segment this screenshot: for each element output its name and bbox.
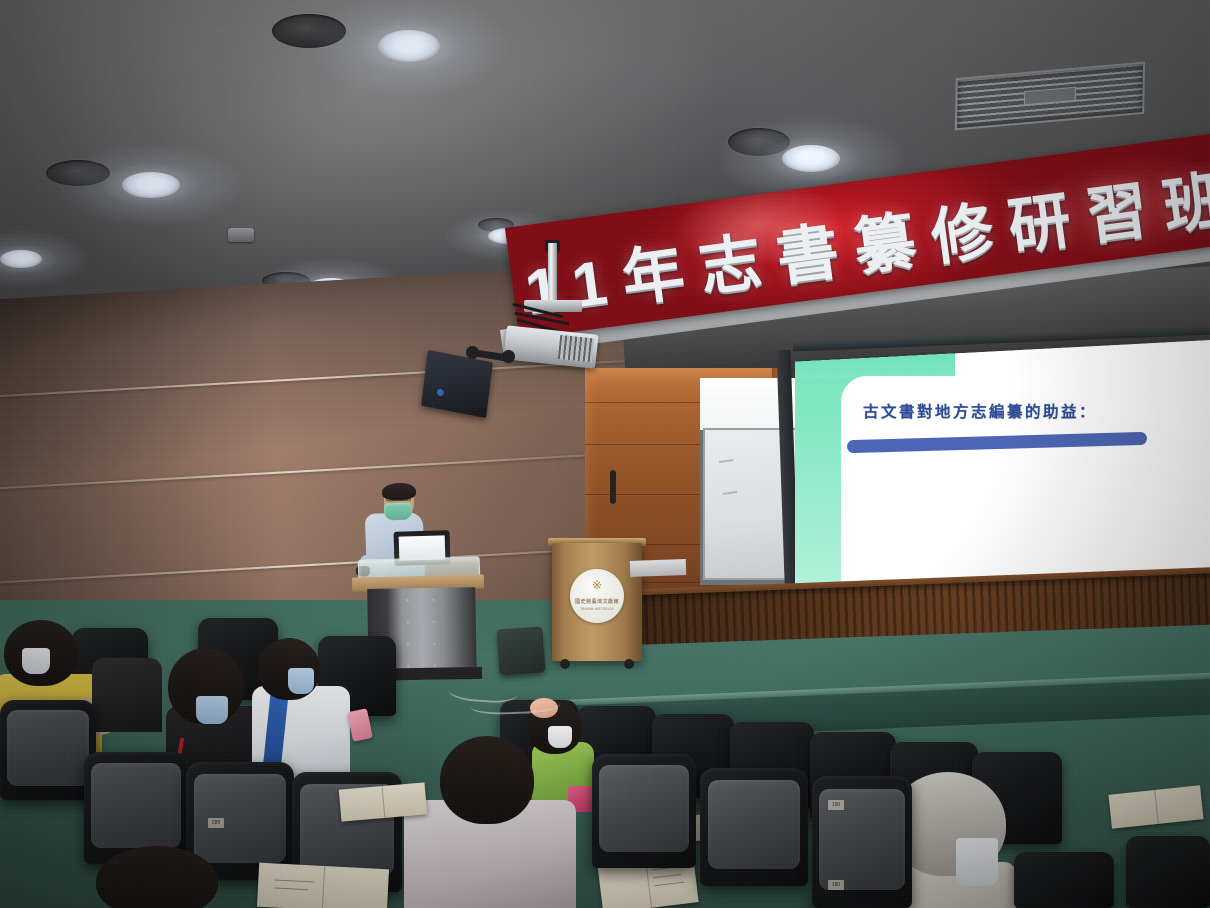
downlight-on-icon xyxy=(122,172,180,198)
downlight-off-icon xyxy=(728,128,790,156)
projector-vent xyxy=(558,335,594,362)
floor-bag xyxy=(496,626,545,675)
institution-emblem: ※ 國史館臺灣文獻館 TAIWAN HISTORICA xyxy=(570,569,624,623)
side-table xyxy=(630,559,687,577)
notebook-text-line xyxy=(654,882,684,887)
downlight-off-icon xyxy=(46,160,110,186)
seat-number-plate: 289 xyxy=(208,818,224,828)
slide-title: 古文書對地方志編纂的助益： xyxy=(863,400,1097,422)
notebook-text-line xyxy=(653,874,681,878)
downlight-on-icon xyxy=(378,30,440,62)
lecture-hall-photo: 古文書對地方志編纂的助益： CASIO 11年志書纂修研習班 xyxy=(0,0,1210,908)
seat-cushion xyxy=(708,780,801,870)
podium-caster-icon xyxy=(624,659,634,669)
attendee-torso xyxy=(92,658,162,732)
seat-number-plate: 180 xyxy=(828,880,844,890)
podium-caster-icon xyxy=(560,659,570,669)
speaker-led-icon xyxy=(436,388,444,396)
seat-number-plate: 190 xyxy=(828,800,844,810)
downlight-on-icon xyxy=(782,145,840,172)
emblem-institution-subtitle: TAIWAN HISTORICA xyxy=(570,607,624,611)
door-handle[interactable] xyxy=(610,470,616,504)
presenter-face-mask xyxy=(384,503,413,521)
deer-icon: ※ xyxy=(592,579,602,591)
wooden-podium: ※ 國史館臺灣文獻館 TAIWAN HISTORICA xyxy=(552,543,642,661)
attendee-face-mask xyxy=(288,668,314,694)
seat-cushion xyxy=(91,763,180,848)
attendee-face-mask xyxy=(22,648,50,674)
emblem-institution-name: 國史館臺灣文獻館 xyxy=(570,598,624,605)
open-notebook[interactable] xyxy=(257,863,389,908)
attendee-face-mask xyxy=(196,696,228,724)
projector-mount-pole xyxy=(548,243,557,305)
auditorium-seat[interactable] xyxy=(592,754,696,868)
notebook-text-line xyxy=(274,887,308,890)
downlight-off-icon xyxy=(272,14,346,48)
attendee-face-mask xyxy=(956,838,998,886)
whiteboard-glare xyxy=(700,378,810,430)
notebook-text-line xyxy=(274,879,314,882)
whiteboard-marking xyxy=(723,491,737,495)
auditorium-seat[interactable]: 190 180 xyxy=(812,776,912,908)
downlight-on-icon xyxy=(0,250,42,268)
seat-cushion xyxy=(599,765,688,852)
air-vent-core xyxy=(1024,87,1076,105)
auditorium-seat[interactable] xyxy=(700,768,808,886)
whiteboard-marking xyxy=(719,459,733,463)
presenter-glasses-icon xyxy=(386,496,411,502)
auditorium-seat[interactable] xyxy=(1126,836,1210,908)
seat-cushion xyxy=(7,710,90,786)
attendee-head xyxy=(96,846,218,908)
speaker-mount-knob xyxy=(502,350,515,363)
auditorium-seat[interactable] xyxy=(0,700,96,800)
auditorium-seat[interactable] xyxy=(1014,852,1114,908)
attendee-face-mask xyxy=(548,726,572,748)
attendee-head xyxy=(440,736,534,824)
slide-accent-bar xyxy=(847,432,1147,453)
smoke-detector-icon xyxy=(228,228,254,242)
